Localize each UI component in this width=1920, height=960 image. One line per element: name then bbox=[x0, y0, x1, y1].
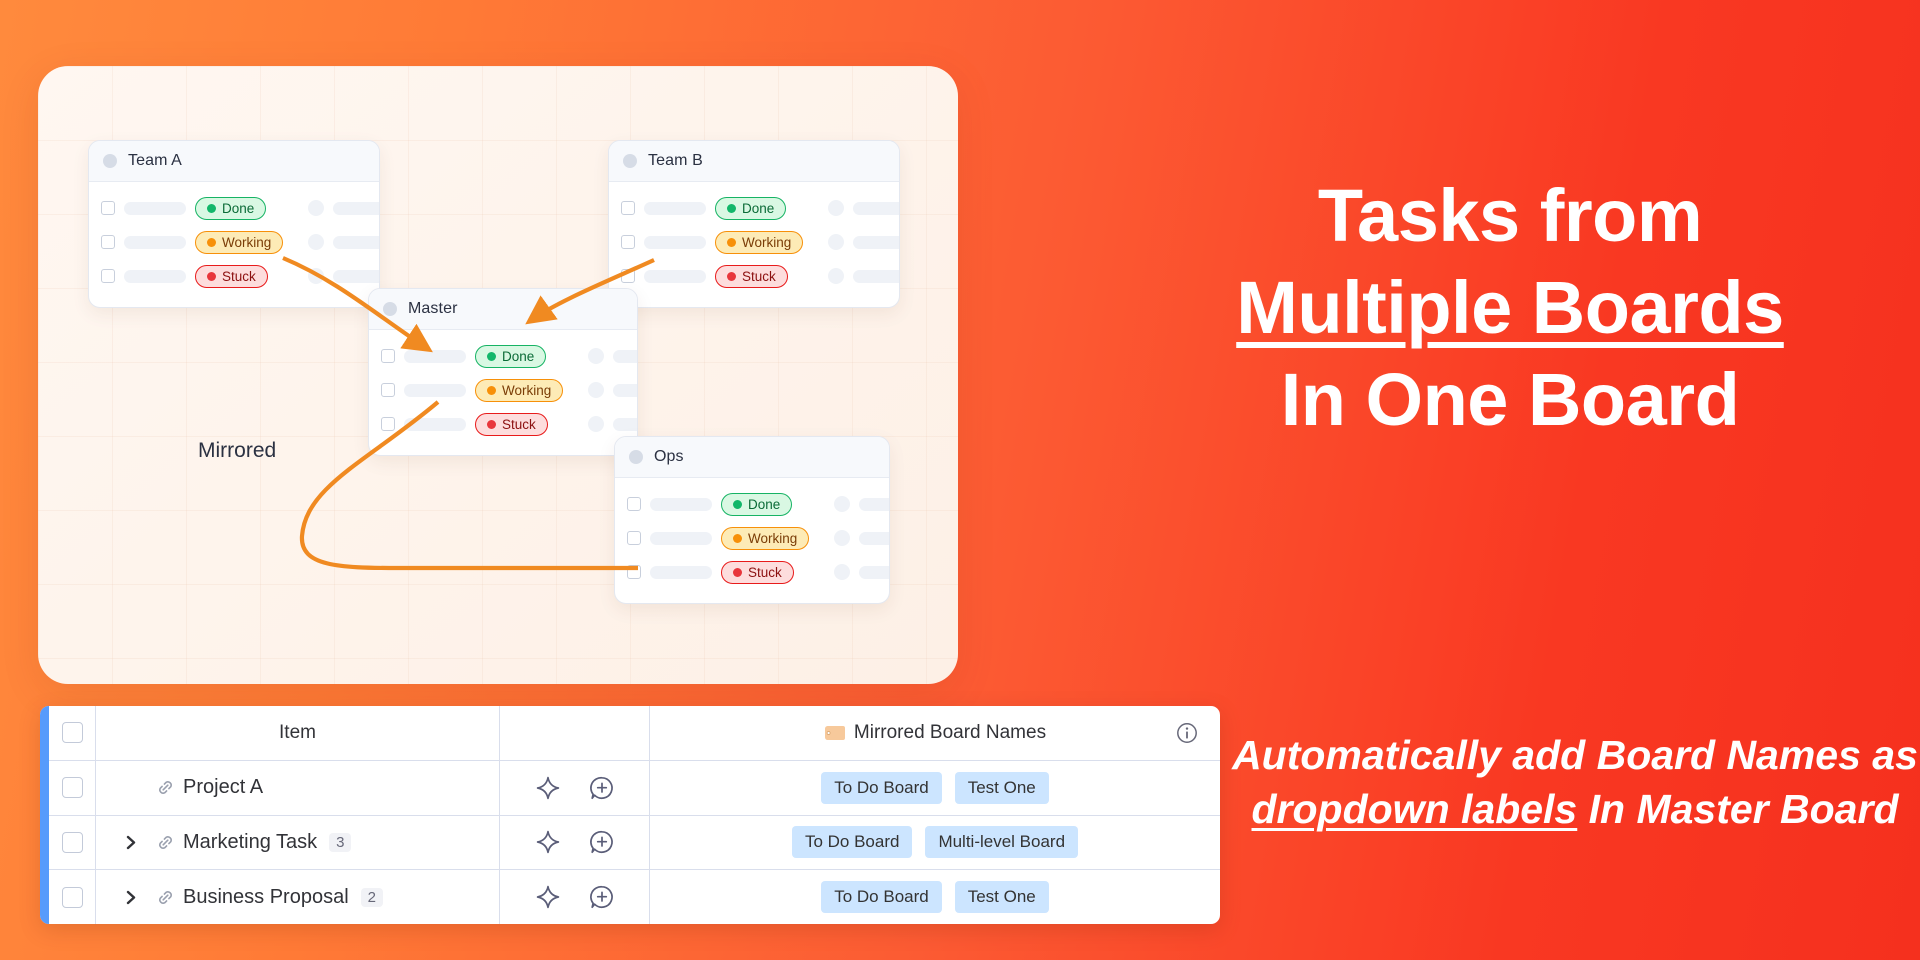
row-checkbox[interactable] bbox=[621, 201, 635, 215]
board-dot-icon bbox=[629, 450, 643, 464]
row-item-name: Project A bbox=[183, 776, 263, 799]
row-select-cell[interactable] bbox=[49, 761, 96, 815]
board-row[interactable]: Working bbox=[89, 225, 379, 259]
status-chip-done[interactable]: Done bbox=[475, 345, 546, 368]
select-all-checkbox[interactable] bbox=[62, 722, 83, 743]
column-header-mirrored-board-names[interactable]: Mirrored Board Names bbox=[650, 706, 1220, 760]
column-header-item[interactable]: Item bbox=[96, 706, 500, 760]
add-comment-icon[interactable] bbox=[589, 775, 615, 801]
board-body: Done Working Stuck bbox=[615, 478, 889, 603]
board-row[interactable]: Done bbox=[609, 191, 899, 225]
row-item-name: Business Proposal bbox=[183, 886, 349, 909]
subheadline-pre: Automatically add Board Names as bbox=[1232, 732, 1918, 778]
status-dot-icon bbox=[733, 534, 742, 543]
status-dot-icon bbox=[207, 204, 216, 213]
board-card-master[interactable]: Master Done Working Stuck bbox=[368, 288, 638, 456]
caption-mirrored: Mirrored bbox=[198, 439, 276, 463]
board-body: Done Working Stuck bbox=[369, 330, 637, 455]
status-dot-icon bbox=[487, 386, 496, 395]
row-checkbox[interactable] bbox=[621, 235, 635, 249]
board-dot-icon bbox=[383, 302, 397, 316]
board-row[interactable]: Stuck bbox=[89, 259, 379, 293]
row-checkbox[interactable] bbox=[381, 349, 395, 363]
placeholder-bar bbox=[644, 236, 706, 249]
board-row[interactable]: Stuck bbox=[615, 555, 889, 589]
status-chip-stuck[interactable]: Stuck bbox=[475, 413, 548, 436]
status-dot-icon bbox=[733, 568, 742, 577]
row-item-cell[interactable]: Business Proposal 2 bbox=[96, 870, 500, 924]
status-chip-stuck[interactable]: Stuck bbox=[715, 265, 788, 288]
placeholder-bar bbox=[644, 202, 706, 215]
placeholder-bar bbox=[859, 532, 890, 545]
status-chip-label: Done bbox=[742, 201, 774, 216]
placeholder-bar bbox=[613, 418, 638, 431]
status-chip-label: Stuck bbox=[502, 417, 536, 432]
board-chip[interactable]: Multi-level Board bbox=[925, 826, 1078, 858]
board-chip[interactable]: Test One bbox=[955, 772, 1049, 804]
table-row[interactable]: Business Proposal 2 To Do Board Test One bbox=[49, 870, 1220, 924]
headline-line-2: Multiple Boards bbox=[1130, 262, 1890, 354]
board-card-ops[interactable]: Ops Done Working Stuck bbox=[614, 436, 890, 604]
add-comment-icon[interactable] bbox=[589, 829, 615, 855]
board-chip[interactable]: To Do Board bbox=[792, 826, 913, 858]
board-card-team-b[interactable]: Team B Done Working Stuck bbox=[608, 140, 900, 308]
sparkle-icon[interactable] bbox=[535, 829, 561, 855]
placeholder-avatar bbox=[308, 200, 324, 216]
board-row[interactable]: Working bbox=[369, 373, 637, 407]
headline-line-3: In One Board bbox=[1130, 354, 1890, 446]
row-checkbox[interactable] bbox=[627, 497, 641, 511]
status-dot-icon bbox=[487, 352, 496, 361]
row-action-icons bbox=[500, 816, 650, 870]
status-dot-icon bbox=[727, 204, 736, 213]
board-header: Master bbox=[369, 289, 637, 330]
board-body: Done Working Stuck bbox=[89, 182, 379, 307]
placeholder-bar bbox=[859, 498, 890, 511]
status-chip-done[interactable]: Done bbox=[721, 493, 792, 516]
row-checkbox[interactable] bbox=[101, 201, 115, 215]
board-chip[interactable]: To Do Board bbox=[821, 772, 942, 804]
row-item-name: Marketing Task bbox=[183, 831, 317, 854]
board-card-team-a[interactable]: Team A Done Working Stuck bbox=[88, 140, 380, 308]
board-header: Ops bbox=[615, 437, 889, 478]
info-icon[interactable] bbox=[1176, 722, 1198, 744]
row-action-icons bbox=[500, 761, 650, 815]
status-dot-icon bbox=[207, 238, 216, 247]
status-chip-label: Working bbox=[502, 383, 551, 398]
row-item-cell[interactable]: Marketing Task 3 bbox=[96, 816, 500, 870]
row-checkbox[interactable] bbox=[621, 269, 635, 283]
subitem-count-badge: 2 bbox=[361, 888, 383, 907]
chevron-right-icon[interactable] bbox=[124, 890, 139, 905]
subheadline-post: In Master Board bbox=[1577, 786, 1898, 832]
placeholder-bar bbox=[124, 236, 186, 249]
column-header-icons bbox=[500, 706, 650, 760]
placeholder-bar bbox=[853, 236, 900, 249]
placeholder-avatar bbox=[834, 564, 850, 580]
board-body: Done Working Stuck bbox=[609, 182, 899, 307]
board-title: Ops bbox=[654, 448, 684, 466]
board-row[interactable]: Working bbox=[609, 225, 899, 259]
sparkle-icon[interactable] bbox=[535, 775, 561, 801]
link-icon bbox=[156, 833, 175, 852]
table-color-rail bbox=[40, 706, 49, 924]
placeholder-bar bbox=[404, 384, 466, 397]
row-board-chips-cell[interactable]: To Do Board Test One bbox=[650, 761, 1220, 815]
status-chip-working[interactable]: Working bbox=[195, 231, 283, 254]
row-checkbox[interactable] bbox=[62, 887, 83, 908]
illustration-panel: Team A Done Working Stuck bbox=[38, 66, 958, 684]
row-board-chips-cell[interactable]: To Do Board Test One bbox=[650, 870, 1220, 924]
placeholder-avatar bbox=[834, 530, 850, 546]
status-chip-stuck[interactable]: Stuck bbox=[195, 265, 268, 288]
board-row[interactable]: Stuck bbox=[609, 259, 899, 293]
placeholder-avatar bbox=[588, 348, 604, 364]
status-chip-label: Stuck bbox=[742, 269, 776, 284]
placeholder-bar bbox=[613, 350, 638, 363]
status-chip-label: Done bbox=[748, 497, 780, 512]
status-chip-working[interactable]: Working bbox=[475, 379, 563, 402]
board-dot-icon bbox=[103, 154, 117, 168]
placeholder-avatar bbox=[828, 200, 844, 216]
headline-line-1: Tasks from bbox=[1130, 170, 1890, 262]
row-select-cell[interactable] bbox=[49, 816, 96, 870]
board-row[interactable]: Stuck bbox=[369, 407, 637, 441]
row-select-cell[interactable] bbox=[49, 870, 96, 924]
subheadline: Automatically add Board Names as dropdow… bbox=[1230, 728, 1920, 836]
board-header: Team B bbox=[609, 141, 899, 182]
status-chip-label: Done bbox=[502, 349, 534, 364]
placeholder-bar bbox=[650, 498, 712, 511]
row-checkbox[interactable] bbox=[627, 531, 641, 545]
placeholder-bar bbox=[650, 566, 712, 579]
status-chip-working[interactable]: Working bbox=[721, 527, 809, 550]
row-checkbox[interactable] bbox=[62, 832, 83, 853]
row-board-chips-cell[interactable]: To Do Board Multi-level Board bbox=[650, 816, 1220, 870]
board-row[interactable]: Working bbox=[615, 521, 889, 555]
mirrored-boards-table[interactable]: Item Mirrored Board Names bbox=[40, 706, 1220, 924]
placeholder-avatar bbox=[834, 496, 850, 512]
placeholder-avatar bbox=[828, 234, 844, 250]
board-row[interactable]: Done bbox=[369, 339, 637, 373]
column-header-mirrored-label: Mirrored Board Names bbox=[854, 722, 1046, 744]
status-dot-icon bbox=[727, 272, 736, 281]
subheadline-emphasis: dropdown labels bbox=[1252, 786, 1578, 832]
board-title: Team B bbox=[648, 152, 703, 170]
placeholder-bar bbox=[644, 270, 706, 283]
row-checkbox[interactable] bbox=[627, 565, 641, 579]
status-dot-icon bbox=[727, 238, 736, 247]
row-item-cell[interactable]: Project A bbox=[96, 761, 500, 815]
board-dot-icon bbox=[623, 154, 637, 168]
row-checkbox[interactable] bbox=[381, 383, 395, 397]
placeholder-avatar bbox=[308, 234, 324, 250]
status-chip-label: Working bbox=[222, 235, 271, 250]
placeholder-avatar bbox=[588, 382, 604, 398]
placeholder-bar bbox=[333, 202, 380, 215]
status-chip-label: Stuck bbox=[748, 565, 782, 580]
placeholder-bar bbox=[853, 202, 900, 215]
placeholder-avatar bbox=[828, 268, 844, 284]
placeholder-bar bbox=[859, 566, 890, 579]
placeholder-avatar bbox=[308, 268, 324, 284]
column-header-item-label: Item bbox=[96, 722, 499, 744]
placeholder-bar bbox=[613, 384, 638, 397]
status-dot-icon bbox=[207, 272, 216, 281]
row-checkbox[interactable] bbox=[101, 269, 115, 283]
board-chip[interactable]: Test One bbox=[955, 881, 1049, 913]
status-dot-icon bbox=[733, 500, 742, 509]
status-chip-working[interactable]: Working bbox=[715, 231, 803, 254]
board-row[interactable]: Done bbox=[615, 487, 889, 521]
placeholder-bar bbox=[404, 418, 466, 431]
sparkle-icon[interactable] bbox=[535, 884, 561, 910]
board-title: Team A bbox=[128, 152, 182, 170]
link-icon bbox=[156, 888, 175, 907]
row-checkbox[interactable] bbox=[62, 777, 83, 798]
placeholder-bar bbox=[124, 270, 186, 283]
row-checkbox[interactable] bbox=[101, 235, 115, 249]
placeholder-bar bbox=[333, 236, 380, 249]
link-icon bbox=[156, 778, 175, 797]
status-dot-icon bbox=[487, 420, 496, 429]
chevron-right-icon[interactable] bbox=[124, 835, 139, 850]
subitem-count-badge: 3 bbox=[329, 833, 351, 852]
headline: Tasks from Multiple Boards In One Board bbox=[1130, 170, 1890, 445]
board-header: Team A bbox=[89, 141, 379, 182]
table-row[interactable]: Marketing Task 3 To Do Board Multi-level… bbox=[49, 816, 1220, 871]
placeholder-bar bbox=[853, 270, 900, 283]
tag-icon bbox=[824, 726, 845, 740]
placeholder-bar bbox=[404, 350, 466, 363]
placeholder-bar bbox=[333, 270, 380, 283]
status-chip-label: Done bbox=[222, 201, 254, 216]
status-chip-stuck[interactable]: Stuck bbox=[721, 561, 794, 584]
status-chip-label: Stuck bbox=[222, 269, 256, 284]
board-chip[interactable]: To Do Board bbox=[821, 881, 942, 913]
row-checkbox[interactable] bbox=[381, 417, 395, 431]
add-comment-icon[interactable] bbox=[589, 884, 615, 910]
board-title: Master bbox=[408, 300, 458, 318]
status-chip-label: Working bbox=[742, 235, 791, 250]
row-action-icons bbox=[500, 870, 650, 924]
placeholder-avatar bbox=[588, 416, 604, 432]
table-header-row: Item Mirrored Board Names bbox=[49, 706, 1220, 761]
status-chip-done[interactable]: Done bbox=[715, 197, 786, 220]
table-row[interactable]: Project A To Do Board Test One bbox=[49, 761, 1220, 816]
status-chip-label: Working bbox=[748, 531, 797, 546]
placeholder-bar bbox=[124, 202, 186, 215]
select-all-cell[interactable] bbox=[49, 706, 96, 760]
status-chip-done[interactable]: Done bbox=[195, 197, 266, 220]
placeholder-bar bbox=[650, 532, 712, 545]
board-row[interactable]: Done bbox=[89, 191, 379, 225]
